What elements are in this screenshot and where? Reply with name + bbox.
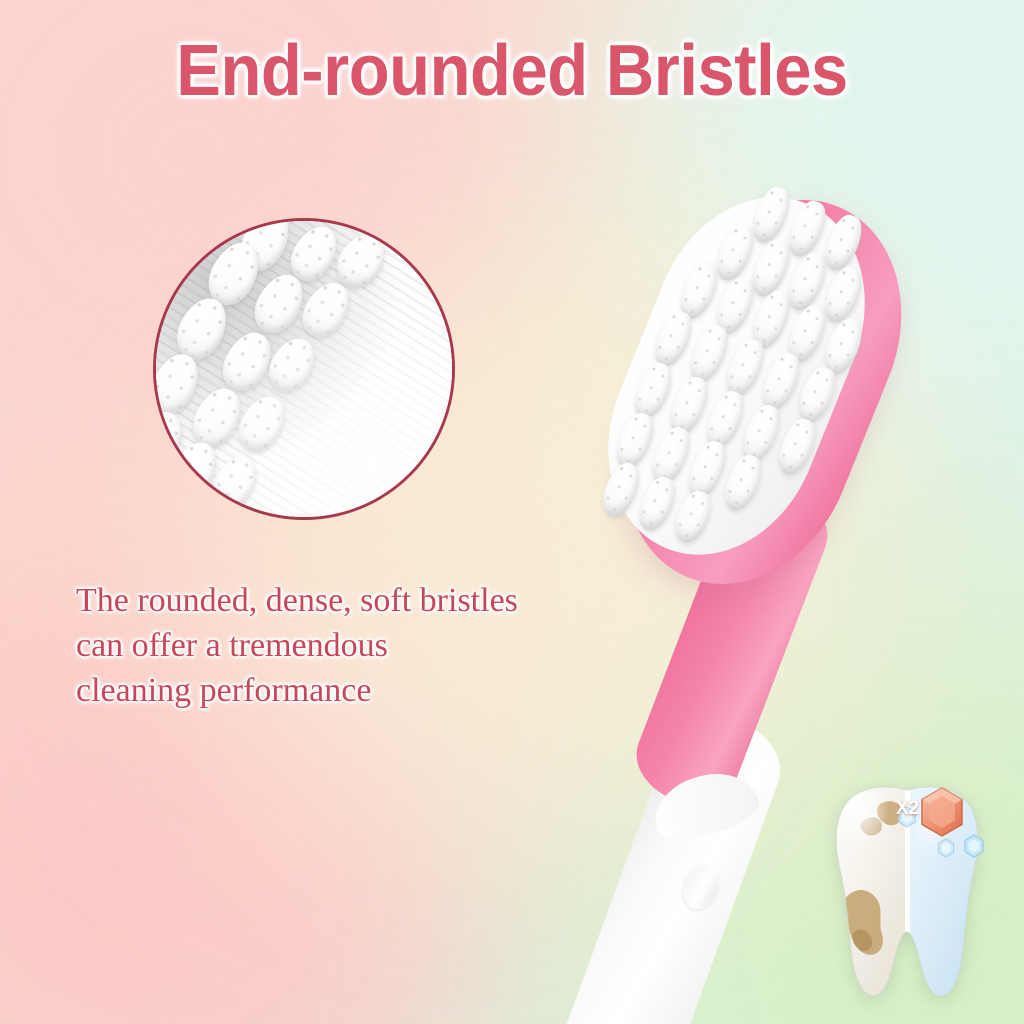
bristle-closeup-circle (153, 218, 455, 520)
page-title: End-rounded Bristles (36, 34, 988, 110)
tooth-gloss (838, 790, 906, 878)
x2-badge-icon (916, 786, 968, 838)
ice-crystal-icon (896, 806, 918, 828)
before-after-tooth: X2 (820, 782, 995, 1007)
ice-crystal-icon (936, 838, 956, 858)
bristle-closeup-image (154, 219, 454, 519)
feature-graphic-canvas: End-rounded Bristles The rounded, den (0, 0, 1024, 1024)
